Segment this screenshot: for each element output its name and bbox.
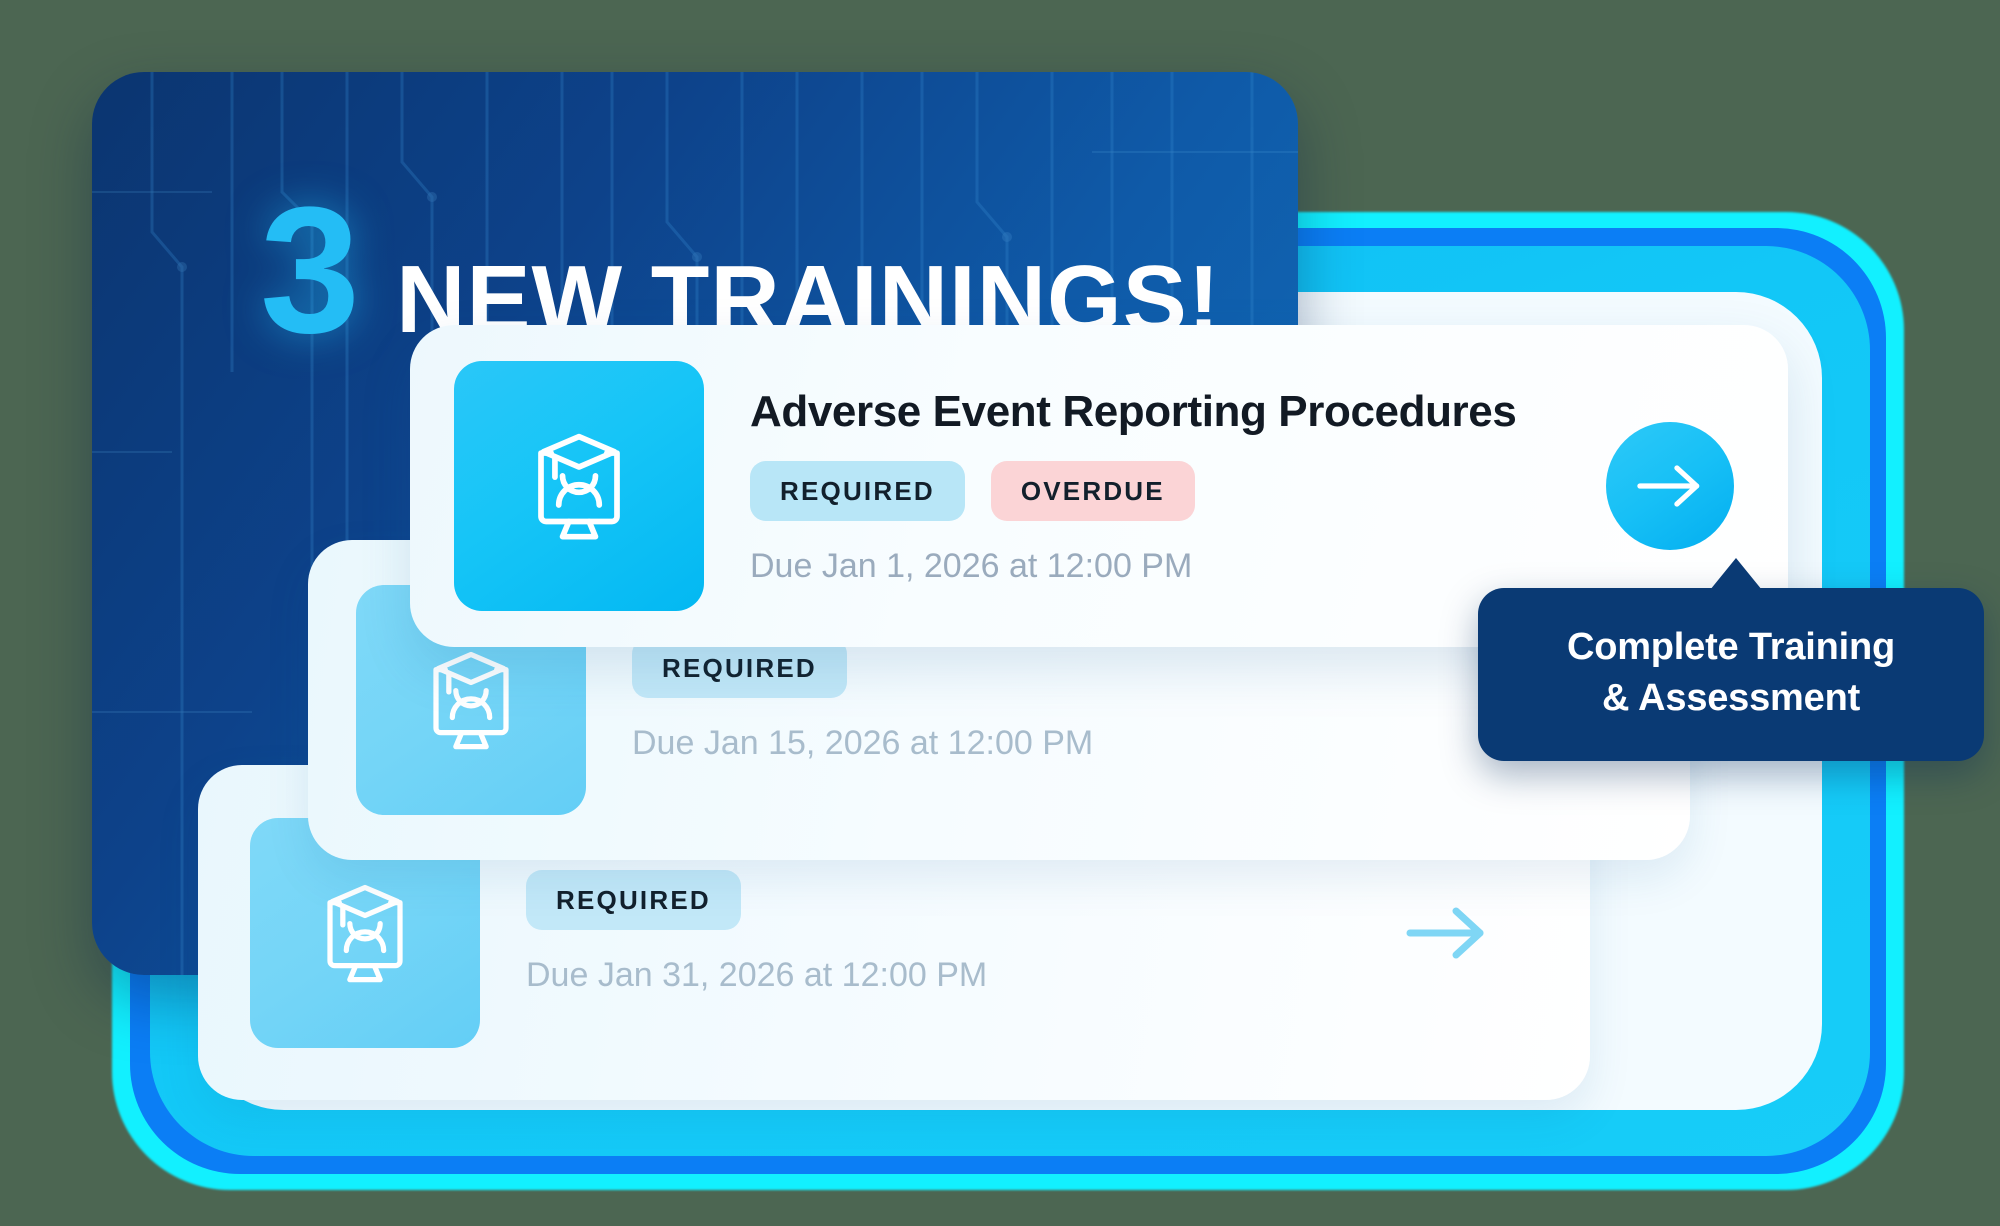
go-to-training-arrow-button[interactable] [1606, 422, 1734, 550]
arrow-right-icon [1633, 460, 1707, 512]
callout-line-2: & Assessment [1498, 673, 1964, 724]
training-notification-graphic: 3 NEW TRAININGS! REQUIRED Due Jan 31, 20… [0, 0, 2000, 1226]
new-trainings-count: 3 [260, 190, 356, 352]
go-to-training-arrow-icon-3[interactable] [1404, 903, 1490, 963]
callout-line-1: Complete Training [1498, 622, 1964, 673]
status-badge-overdue: OVERDUE [991, 461, 1195, 521]
status-badge-required: REQUIRED [750, 461, 965, 521]
training-card-1-due-date: Due Jan 1, 2026 at 12:00 PM [750, 547, 1788, 586]
training-title: Adverse Event Reporting Procedures [750, 387, 1788, 437]
status-badge-required: REQUIRED [526, 870, 741, 930]
complete-training-callout: Complete Training & Assessment [1478, 588, 1984, 761]
training-monitor-graduation-icon [454, 361, 704, 611]
